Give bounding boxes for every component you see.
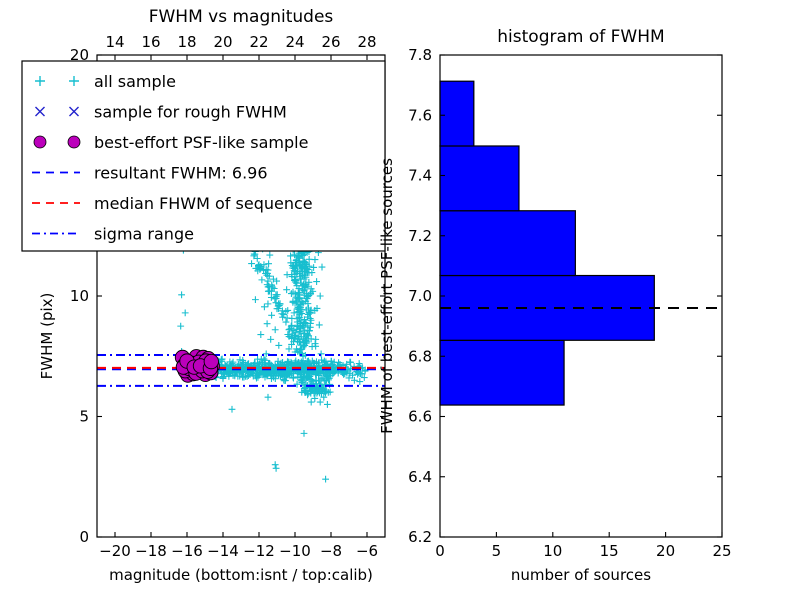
scatter-ytick-label: 0 xyxy=(79,528,89,546)
scatter-top-tick-label: 20 xyxy=(213,33,232,51)
plot-svg: −20−18−16−14−12−10−8−6051020141618202224… xyxy=(0,0,800,600)
scatter-xtick-label: −10 xyxy=(279,542,311,560)
scatter-ytick-label: 5 xyxy=(79,408,89,426)
scatter-point-all-sample xyxy=(265,300,272,307)
legend-entry-label: resultant FWHM: 6.96 xyxy=(94,164,268,183)
histogram-bar xyxy=(440,276,654,341)
scatter-xtick-label: −12 xyxy=(243,542,275,560)
histogram-bar xyxy=(440,211,575,276)
scatter-point-all-sample xyxy=(261,303,268,310)
scatter-point-all-sample xyxy=(283,286,290,293)
scatter-point-all-sample xyxy=(312,336,319,343)
histogram-xtick-label: 15 xyxy=(600,542,619,560)
scatter-xtick-label: −6 xyxy=(356,542,378,560)
legend-box xyxy=(22,61,385,251)
scatter-point-all-sample xyxy=(248,260,255,267)
scatter-point-all-sample xyxy=(308,269,315,276)
scatter-point-all-sample xyxy=(308,399,315,406)
scatter-ytick-label: 10 xyxy=(70,287,89,305)
scatter-top-tick-label: 22 xyxy=(249,33,268,51)
scatter-point-all-sample xyxy=(273,465,280,472)
scatter-top-tick-label: 26 xyxy=(321,33,340,51)
scatter-xtick-label: −20 xyxy=(99,542,131,560)
scatter-point-all-sample xyxy=(265,394,272,401)
scatter-point-all-sample xyxy=(257,331,264,338)
histogram-xtick-label: 10 xyxy=(543,542,562,560)
scatter-top-tick-label: 18 xyxy=(177,33,196,51)
scatter-point-all-sample xyxy=(264,320,271,327)
scatter-point-all-sample xyxy=(284,271,291,278)
scatter-xtick-label: −18 xyxy=(135,542,167,560)
histogram-ytick-label: 7.0 xyxy=(408,287,432,305)
scatter-point-all-sample xyxy=(308,317,315,324)
histogram-ytick-label: 7.4 xyxy=(408,167,432,185)
legend-entry-label: sigma range xyxy=(94,225,194,244)
histogram-xtick-label: 5 xyxy=(492,542,502,560)
legend-marker-circle-icon xyxy=(34,136,46,148)
scatter-point-all-sample xyxy=(258,276,265,283)
scatter-top-tick-label: 24 xyxy=(285,33,304,51)
histogram-bar xyxy=(440,146,519,211)
scatter-point-all-sample xyxy=(309,343,316,350)
scatter-xtick-label: −16 xyxy=(171,542,203,560)
scatter-point-all-sample xyxy=(318,350,325,357)
scatter-point-all-sample xyxy=(301,430,308,437)
scatter-xlabel: magnitude (bottom:isnt / top:calib) xyxy=(109,566,373,584)
scatter-point-all-sample xyxy=(267,336,274,343)
histogram-ylabel: FWHM of best-effort PSF-like sources xyxy=(378,158,396,434)
scatter-point-all-sample xyxy=(268,312,275,319)
histogram-bar xyxy=(440,340,564,405)
scatter-point-all-sample xyxy=(319,264,326,271)
histogram-title: histogram of FWHM xyxy=(497,27,664,47)
scatter-point-all-sample xyxy=(177,323,184,330)
scatter-point-all-sample xyxy=(229,406,236,413)
legend-entry-label: best-effort PSF-like sample xyxy=(94,133,308,152)
histogram-ytick-label: 7.6 xyxy=(408,106,432,124)
legend: all samplesample for rough FWHMbest-effo… xyxy=(22,61,385,251)
legend-marker-circle-icon xyxy=(68,136,80,148)
scatter-point-all-sample xyxy=(252,296,259,303)
scatter-top-tick-label: 16 xyxy=(141,33,160,51)
scatter-top-tick-label: 28 xyxy=(357,33,376,51)
histogram-xlabel: number of sources xyxy=(511,566,651,584)
scatter-point-all-sample xyxy=(317,399,324,406)
histogram-ytick-label: 7.2 xyxy=(408,227,432,245)
figure-canvas: −20−18−16−14−12−10−8−6051020141618202224… xyxy=(0,0,800,600)
histogram-ytick-label: 6.6 xyxy=(408,408,432,426)
scatter-point-all-sample xyxy=(275,342,282,349)
scatter-point-all-sample xyxy=(266,252,273,259)
scatter-point-all-sample xyxy=(356,378,363,385)
histogram-ytick-label: 6.8 xyxy=(408,347,432,365)
legend-entry-label: median FHWM of sequence xyxy=(94,194,313,213)
scatter-point-all-sample xyxy=(324,401,331,408)
scatter-point-all-sample xyxy=(272,461,279,468)
scatter-point-all-sample xyxy=(272,326,279,333)
histogram-ytick-label: 6.4 xyxy=(408,468,432,486)
scatter-point-all-sample xyxy=(312,256,319,263)
scatter-xtick-label: −14 xyxy=(207,542,239,560)
scatter-point-all-sample xyxy=(288,290,295,297)
scatter-title: FWHM vs magnitudes xyxy=(149,7,334,27)
scatter-point-all-sample xyxy=(182,309,189,316)
histogram-xtick-label: 20 xyxy=(656,542,675,560)
scatter-point-all-sample xyxy=(313,278,320,285)
histogram-plot-group: 05101520256.26.46.66.87.07.27.47.67.8his… xyxy=(378,27,732,584)
scatter-top-tick-label: 14 xyxy=(105,33,124,51)
scatter-ylabel: FWHM (pix) xyxy=(38,293,56,380)
scatter-point-all-sample xyxy=(283,319,290,326)
legend-entry-label: all sample xyxy=(94,72,176,91)
scatter-point-all-sample xyxy=(310,264,317,271)
legend-entry-label: sample for rough FWHM xyxy=(94,103,287,122)
histogram-bar xyxy=(440,81,474,146)
scatter-point-all-sample xyxy=(322,476,329,483)
scatter-point-all-sample xyxy=(316,322,323,329)
histogram-xtick-label: 0 xyxy=(435,542,445,560)
histogram-xtick-label: 25 xyxy=(712,542,731,560)
scatter-point-all-sample xyxy=(317,293,324,300)
histogram-ytick-label: 7.8 xyxy=(408,46,432,64)
scatter-xtick-label: −8 xyxy=(320,542,342,560)
histogram-ytick-label: 6.2 xyxy=(408,528,432,546)
scatter-point-psf-like xyxy=(204,354,218,368)
scatter-point-all-sample xyxy=(178,291,185,298)
